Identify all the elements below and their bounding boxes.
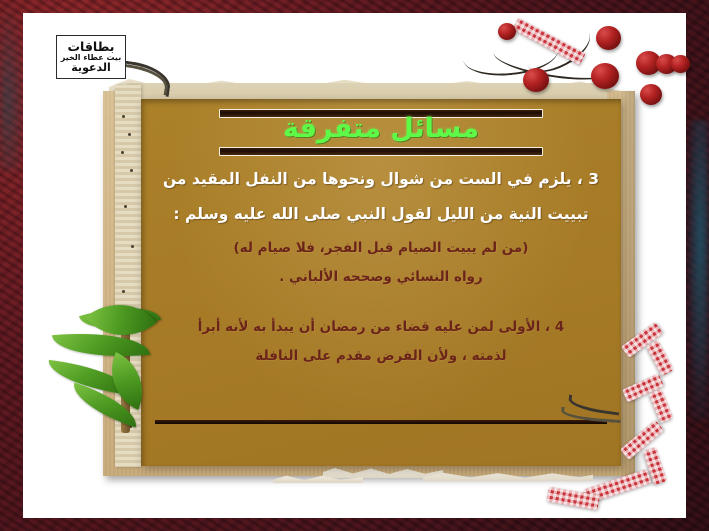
berry-icon	[591, 63, 619, 89]
content-body: 3 ، يلزم في الست من شوال ونحوها من النفل…	[147, 171, 615, 379]
panel-bottom-rule	[155, 420, 607, 424]
item-4-line-2: لذمته ، ولأن الفرض مقدم على النافلة	[147, 349, 615, 365]
berry-icon	[498, 23, 516, 40]
page-title: مسائل متفرقة	[141, 113, 621, 144]
item-4-line-1: 4 ، الأولى لمن عليه قضاء من رمضان أن يبد…	[147, 320, 615, 336]
batha-logo: بطاقات بيت عطاء الخير الدعوية	[56, 35, 126, 79]
item-3-line-2: تبييت النية من الليل لقول النبي صلى الله…	[147, 206, 615, 224]
slide-background: مسائل متفرقة 3 ، يلزم في الست من شوال ون…	[0, 0, 709, 531]
berry-icon	[671, 55, 690, 73]
item-3-line-1: 3 ، يلزم في الست من شوال ونحوها من النفل…	[147, 171, 615, 189]
ribbon-decoration	[646, 340, 674, 377]
logo-line-1: بطاقات	[67, 41, 114, 54]
paragraph-gap	[147, 300, 615, 320]
white-canvas: مسائل متفرقة 3 ، يلزم في الست من شوال ون…	[23, 13, 686, 518]
content-panel: مسائل متفرقة 3 ، يلزم في الست من شوال ون…	[141, 99, 621, 466]
item-3-hadith: (من لم يبيت الصيام قبل الفجر، فلا صيام ل…	[147, 241, 615, 257]
logo-line-3: الدعوية	[71, 62, 110, 73]
ribbon-decoration	[649, 389, 674, 424]
frame-texture-right	[687, 120, 709, 420]
decorative-bar-bottom	[219, 147, 543, 156]
item-3-attribution: رواه النسائي وصححه الألباني .	[147, 270, 615, 286]
berry-icon	[596, 26, 621, 50]
berry-icon	[523, 68, 549, 92]
berry-icon	[640, 84, 662, 105]
